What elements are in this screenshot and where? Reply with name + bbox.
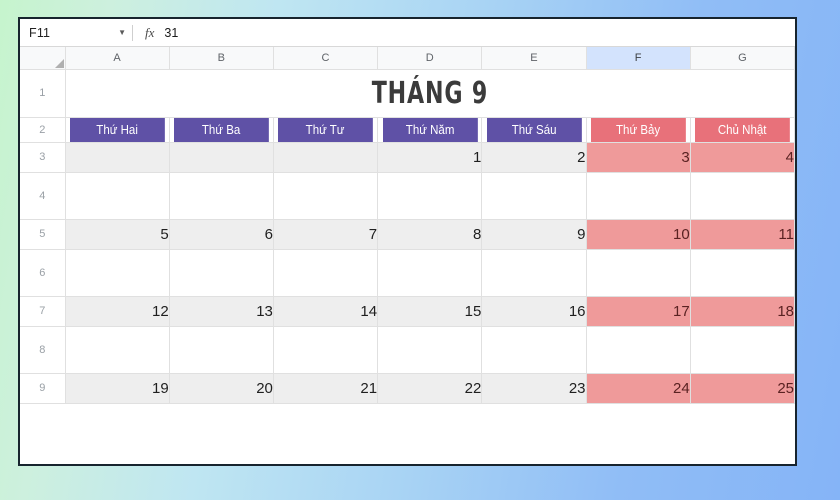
date-cell[interactable]: 14: [273, 296, 377, 326]
note-cell[interactable]: [586, 249, 690, 296]
day-header-friday[interactable]: Thứ Sáu: [486, 117, 582, 142]
date-cell[interactable]: 10: [586, 219, 690, 249]
date-cell[interactable]: 12: [65, 296, 169, 326]
date-cell[interactable]: 23: [482, 373, 586, 403]
fx-icon: fx: [133, 25, 164, 41]
note-cell[interactable]: [273, 172, 377, 219]
row-header-1[interactable]: 1: [20, 69, 65, 117]
date-cell[interactable]: 6: [169, 219, 273, 249]
note-cell[interactable]: [65, 249, 169, 296]
date-cell[interactable]: 17: [586, 296, 690, 326]
note-cell[interactable]: [65, 172, 169, 219]
row-header-8[interactable]: 8: [20, 326, 65, 373]
date-cell[interactable]: 22: [378, 373, 482, 403]
chevron-down-icon[interactable]: ▼: [118, 29, 126, 37]
table-row: 1 THÁNG 9: [20, 69, 795, 117]
column-header-g[interactable]: G: [690, 47, 794, 69]
day-header-sunday[interactable]: Chủ Nhật: [694, 117, 790, 142]
table-row: 7 12 13 14 15 16 17 18: [20, 296, 795, 326]
date-cell[interactable]: 15: [378, 296, 482, 326]
day-header-saturday[interactable]: Thứ Bảy: [590, 117, 686, 142]
date-cell[interactable]: 11: [690, 219, 794, 249]
date-cell[interactable]: 8: [378, 219, 482, 249]
note-cell[interactable]: [169, 172, 273, 219]
note-cell[interactable]: [586, 172, 690, 219]
column-header-c[interactable]: C: [273, 47, 377, 69]
note-cell[interactable]: [169, 326, 273, 373]
date-cell[interactable]: 20: [169, 373, 273, 403]
row-header-9[interactable]: 9: [20, 373, 65, 403]
table-row: 4: [20, 172, 795, 219]
day-header-tuesday[interactable]: Thứ Ba: [173, 117, 269, 142]
name-box-value: F11: [29, 26, 50, 40]
formula-input[interactable]: [164, 19, 795, 46]
day-header-monday[interactable]: Thứ Hai: [69, 117, 165, 142]
note-cell[interactable]: [378, 249, 482, 296]
day-header-thursday[interactable]: Thứ Năm: [382, 117, 478, 142]
note-cell[interactable]: [482, 249, 586, 296]
date-cell[interactable]: 3: [586, 142, 690, 172]
row-header-3[interactable]: 3: [20, 142, 65, 172]
column-header-f[interactable]: F: [586, 47, 690, 69]
date-cell[interactable]: 18: [690, 296, 794, 326]
column-header-a[interactable]: A: [65, 47, 169, 69]
date-cell[interactable]: 19: [65, 373, 169, 403]
date-cell[interactable]: [65, 142, 169, 172]
date-cell[interactable]: [169, 142, 273, 172]
date-cell[interactable]: 13: [169, 296, 273, 326]
date-cell[interactable]: [273, 142, 377, 172]
page-title: THÁNG 9: [372, 76, 488, 111]
note-cell[interactable]: [273, 249, 377, 296]
note-cell[interactable]: [690, 326, 794, 373]
row-header-2[interactable]: 2: [20, 117, 65, 142]
note-cell[interactable]: [586, 326, 690, 373]
note-cell[interactable]: [378, 172, 482, 219]
spreadsheet-window: F11 ▼ fx A B C D E F G: [18, 17, 797, 466]
note-cell[interactable]: [482, 172, 586, 219]
date-cell[interactable]: 16: [482, 296, 586, 326]
note-cell[interactable]: [690, 249, 794, 296]
note-cell[interactable]: [690, 172, 794, 219]
note-cell[interactable]: [273, 326, 377, 373]
date-cell[interactable]: 24: [586, 373, 690, 403]
row-header-4[interactable]: 4: [20, 172, 65, 219]
column-header-row: A B C D E F G: [20, 47, 795, 69]
select-all-corner[interactable]: [20, 47, 65, 69]
note-cell[interactable]: [378, 326, 482, 373]
table-row: 2 Thứ Hai Thứ Ba Thứ Tư Thứ Năm Thứ Sáu …: [20, 117, 795, 142]
row-header-7[interactable]: 7: [20, 296, 65, 326]
date-cell[interactable]: 1: [378, 142, 482, 172]
date-cell[interactable]: 2: [482, 142, 586, 172]
column-header-d[interactable]: D: [378, 47, 482, 69]
table-row: 5 5 6 7 8 9 10 11: [20, 219, 795, 249]
table-row: 3 1 2 3 4: [20, 142, 795, 172]
date-cell[interactable]: 7: [273, 219, 377, 249]
note-cell[interactable]: [482, 326, 586, 373]
table-row: 8: [20, 326, 795, 373]
column-header-e[interactable]: E: [482, 47, 586, 69]
date-cell[interactable]: 25: [690, 373, 794, 403]
date-cell[interactable]: 4: [690, 142, 794, 172]
date-cell[interactable]: 9: [482, 219, 586, 249]
day-header-wednesday[interactable]: Thứ Tư: [278, 117, 374, 142]
table-row: 9 19 20 21 22 23 24 25: [20, 373, 795, 403]
date-cell[interactable]: 5: [65, 219, 169, 249]
note-cell[interactable]: [169, 249, 273, 296]
row-header-5[interactable]: 5: [20, 219, 65, 249]
table-row: 6: [20, 249, 795, 296]
date-cell[interactable]: 21: [273, 373, 377, 403]
column-header-b[interactable]: B: [169, 47, 273, 69]
grid-area[interactable]: A B C D E F G 1 THÁNG 9: [20, 47, 795, 464]
formula-bar: F11 ▼ fx: [20, 19, 795, 47]
spreadsheet-grid: A B C D E F G 1 THÁNG 9: [20, 47, 795, 404]
note-cell[interactable]: [65, 326, 169, 373]
calendar-title-cell[interactable]: THÁNG 9: [65, 69, 795, 117]
name-box[interactable]: F11 ▼: [20, 19, 132, 46]
row-header-6[interactable]: 6: [20, 249, 65, 296]
